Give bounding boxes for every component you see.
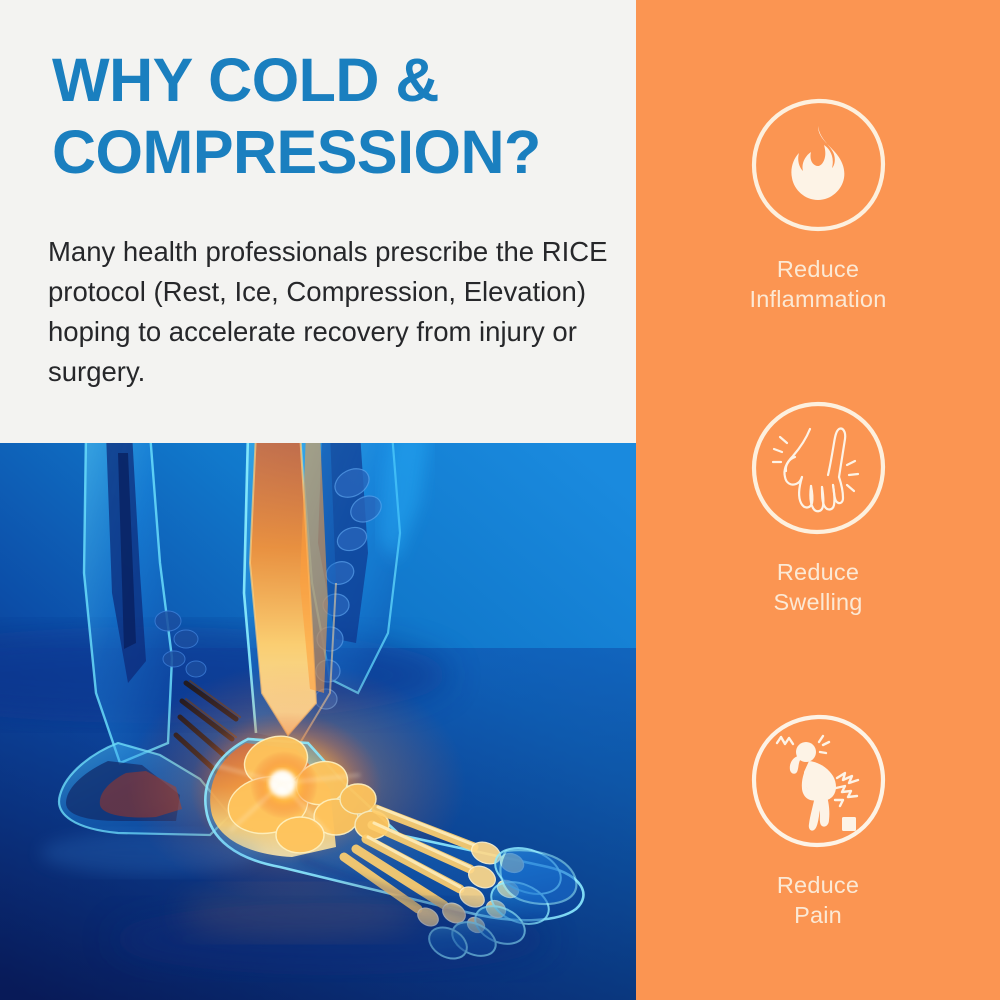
back-pain-person-icon xyxy=(749,712,887,850)
benefit-label-line1: Reduce xyxy=(636,254,1000,284)
left-column: Why Cold & Compression? Many health prof… xyxy=(0,0,636,1000)
benefit-label-line2: Pain xyxy=(636,900,1000,930)
benefit-label-swelling: Reduce Swelling xyxy=(636,557,1000,617)
swollen-hand-icon xyxy=(749,399,887,537)
benefit-label-inflammation: Reduce Inflammation xyxy=(636,254,1000,314)
ankle-xray-svg xyxy=(0,443,636,1000)
benefit-label-line1: Reduce xyxy=(636,557,1000,587)
flame-icon xyxy=(749,96,887,234)
flame-icon-svg xyxy=(749,96,887,234)
benefit-label-line2: Inflammation xyxy=(636,284,1000,314)
back-pain-person-icon-svg xyxy=(749,712,887,850)
ankle-xray-illustration xyxy=(0,443,636,1000)
page-title: Why Cold & Compression? xyxy=(52,44,612,188)
swollen-hand-icon-svg xyxy=(749,399,887,537)
benefits-panel: Reduce Inflammation xyxy=(636,0,1000,1000)
benefit-item-inflammation: Reduce Inflammation xyxy=(636,96,1000,314)
benefit-item-pain: Reduce Pain xyxy=(636,712,1000,930)
benefit-label-line2: Swelling xyxy=(636,587,1000,617)
body-paragraph: Many health professionals prescribe the … xyxy=(48,232,613,392)
benefit-item-swelling: Reduce Swelling xyxy=(636,399,1000,617)
benefit-label-line1: Reduce xyxy=(636,870,1000,900)
text-panel: Why Cold & Compression? Many health prof… xyxy=(0,0,636,443)
benefit-label-pain: Reduce Pain xyxy=(636,870,1000,930)
infographic-canvas: Why Cold & Compression? Many health prof… xyxy=(0,0,1000,1000)
